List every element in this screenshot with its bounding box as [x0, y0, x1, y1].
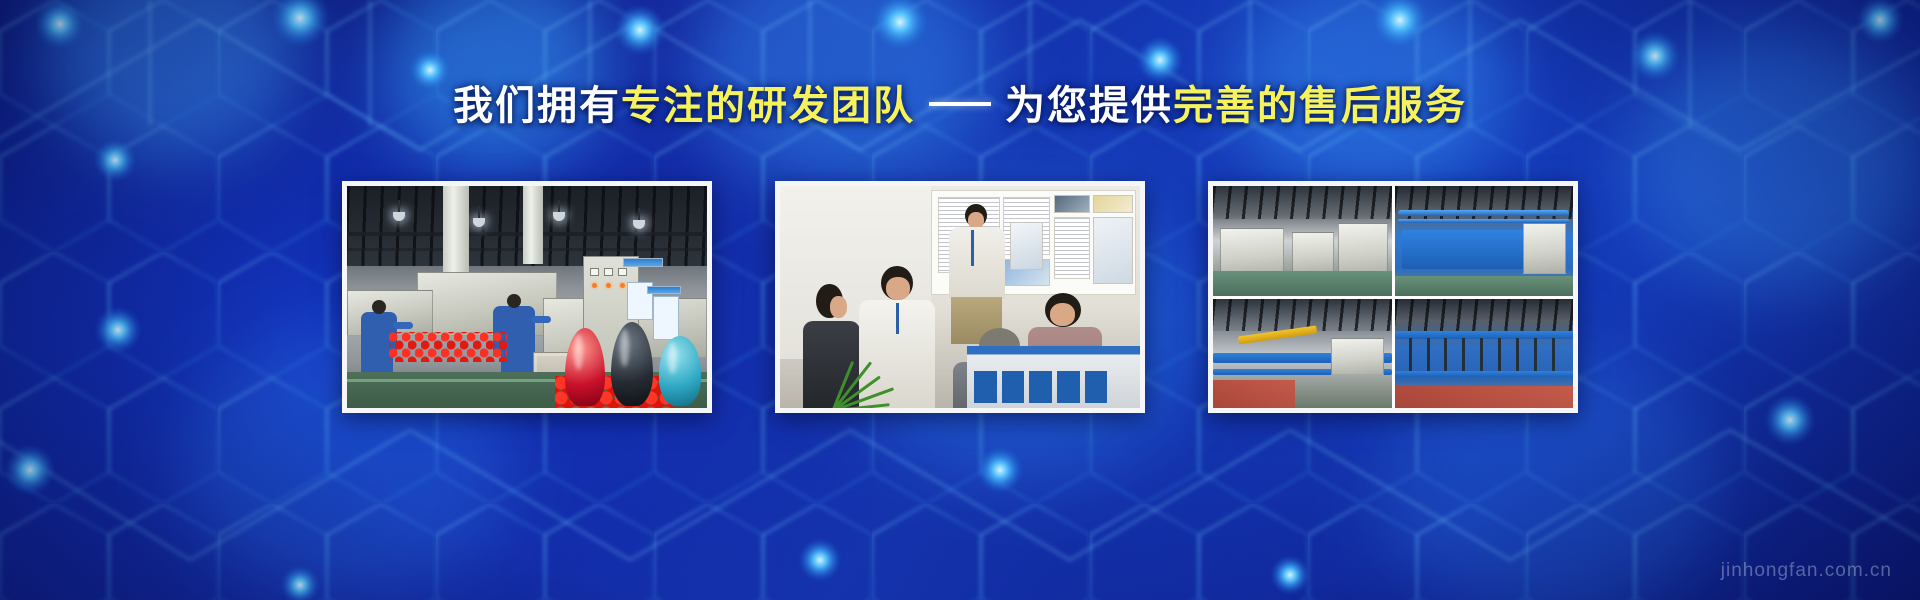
photo-gallery-row: [0, 181, 1920, 413]
fixture-hanger: [1552, 338, 1555, 371]
fixture-hanger: [1462, 338, 1465, 371]
person-face: [1050, 303, 1076, 326]
person-standing-presenter: [942, 204, 1014, 342]
person-face: [968, 212, 985, 229]
photo-card-rnd-meeting[interactable]: [775, 181, 1145, 413]
headline-segment-2: 专注的研发团队: [621, 84, 915, 128]
lanyard-strap: [896, 303, 899, 334]
machine-display-photo: [967, 346, 1140, 408]
cabinet-label: [623, 258, 663, 267]
workshop-floor: [1395, 276, 1574, 296]
collage-cell-oven-line: [1213, 186, 1392, 296]
vase-red: [565, 328, 605, 406]
person-face: [886, 277, 910, 300]
person-face: [830, 296, 847, 318]
meeting-scene: [780, 186, 1140, 408]
photo-card-production-collage[interactable]: [1208, 181, 1578, 413]
overhead-pipe: [1398, 210, 1569, 216]
poster-text-panel: [1054, 217, 1090, 279]
fixture-hanger: [1409, 338, 1412, 371]
collage-cell-conveyor: [1213, 299, 1392, 409]
fixture-hanger: [1444, 338, 1447, 371]
indicator-light-icon: [592, 283, 597, 288]
worker-head: [507, 294, 521, 308]
photo-production-collage: [1213, 186, 1573, 408]
collage-cell-blue-tunnel: [1395, 186, 1574, 296]
photo-coating-workshop: [347, 186, 707, 408]
fixture-hanger: [1480, 338, 1483, 371]
headline-divider-dash: [929, 102, 991, 106]
machine-module: [1002, 371, 1024, 403]
gauge-icon: [604, 268, 613, 276]
equipment-cabinet: [1338, 223, 1388, 276]
lanyard-strap: [971, 230, 974, 266]
floor-marking: [1213, 380, 1295, 408]
product-vases-overlay: [559, 314, 707, 408]
equipment-cabinet: [1331, 338, 1385, 375]
coating-oven: [417, 272, 557, 336]
collage-cell-hanging-fixtures: [1395, 299, 1574, 409]
fixture-hanger: [1516, 338, 1519, 371]
vase-cyan: [659, 336, 701, 406]
foreground-plant: [787, 346, 881, 408]
machine-module: [1085, 371, 1107, 403]
gauge-icon: [618, 268, 627, 276]
machine-module: [974, 371, 996, 403]
machine-module: [1057, 371, 1079, 403]
person-shirt: [949, 227, 1005, 299]
vase-black: [611, 322, 653, 406]
poster-image: [1093, 195, 1133, 213]
headline-segment-4: 完善的售后服务: [1173, 84, 1467, 128]
headline-segment-1: 我们拥有: [453, 84, 621, 128]
equipment-cabinet: [1292, 232, 1335, 274]
gauge-icon: [590, 268, 599, 276]
cabinet-label: [647, 286, 681, 294]
equipment-cabinet: [1523, 223, 1566, 273]
red-coated-parts: [389, 332, 507, 362]
headline-segment-3: 为您提供: [1005, 84, 1173, 128]
production-collage-grid: [1213, 186, 1573, 408]
fixture-hanger: [1498, 338, 1501, 371]
indicator-light-icon: [620, 283, 625, 288]
background-glow-1: [40, 0, 300, 160]
workshop-floor: [1213, 271, 1392, 295]
poster-diagram: [1093, 217, 1133, 284]
indicator-light-icon: [606, 283, 611, 288]
exhaust-duct: [523, 186, 543, 264]
photo-rnd-meeting: [780, 186, 1140, 408]
roof-structure: [1395, 299, 1574, 332]
machine-module: [1029, 371, 1051, 403]
workshop-scene: [347, 186, 707, 408]
worker-arm: [393, 322, 413, 329]
floor-marking: [1395, 386, 1574, 408]
photo-card-coating-workshop[interactable]: [342, 181, 712, 413]
page-title: 我们拥有专注的研发团队为您提供完善的售后服务: [0, 82, 1920, 130]
fixture-hanger: [1427, 338, 1430, 371]
site-watermark: jinhongfan.com.cn: [1721, 560, 1892, 582]
poster-diagram: [1010, 222, 1042, 271]
promotional-banner: 我们拥有专注的研发团队为您提供完善的售后服务: [0, 0, 1920, 600]
fixture-hanger: [1534, 338, 1537, 371]
equipment-cabinet: [1220, 228, 1284, 276]
poster-image: [1054, 195, 1090, 213]
fixture-rail: [1395, 371, 1574, 378]
roof-structure: [1213, 186, 1392, 219]
worker-head: [372, 300, 386, 314]
worker-arm: [531, 316, 551, 323]
exhaust-duct: [443, 186, 469, 282]
fixture-rail: [1395, 331, 1574, 339]
